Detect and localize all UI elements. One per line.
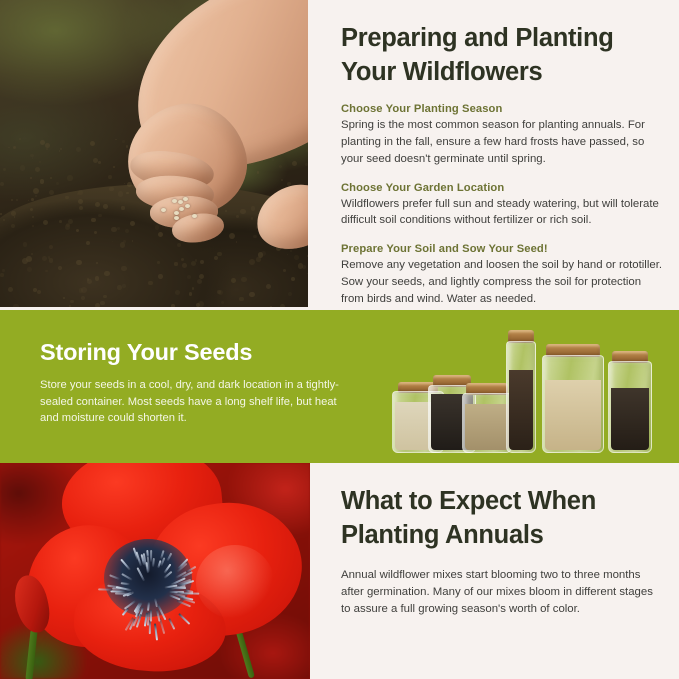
body-planting-season: Spring is the most common season for pla… [341,117,665,167]
seed-contents [545,380,601,450]
what-to-expect-body: Annual wildflower mixes start blooming t… [341,567,655,617]
red-poppy-photo [0,463,310,679]
seed-jar [608,349,652,453]
seed-contents [509,370,533,450]
storing-seeds-body: Store your seeds in a cool, dry, and dar… [40,377,340,427]
seed-contents [611,388,649,450]
section-storing-seeds: Storing Your Seeds Store your seeds in a… [0,310,679,463]
hands-sowing-seeds-photo [0,0,308,307]
page-title: Preparing and Planting Your Wildflowers [341,22,665,89]
body-garden-location: Wildflowers prefer full sun and steady w… [341,196,665,230]
seed-jar [462,381,512,453]
seeds-in-hand [160,196,200,222]
petal-highlight [196,545,274,619]
preparing-planting-text: Preparing and Planting Your Wildflowers … [341,0,679,310]
seed-jar [542,342,604,453]
glass-jar-body [542,355,604,453]
section-what-to-expect: What to Expect When Planting Annuals Ann… [0,463,679,679]
infographic-page: Preparing and Planting Your Wildflowers … [0,0,679,679]
section-preparing-planting: Preparing and Planting Your Wildflowers … [0,0,679,310]
what-to-expect-heading: What to Expect When Planting Annuals [341,485,655,552]
subheading-garden-location: Choose Your Garden Location [341,182,665,194]
poppy-stamens [110,533,190,619]
storing-seeds-text: Storing Your Seeds Store your seeds in a… [40,339,340,427]
what-to-expect-text: What to Expect When Planting Annuals Ann… [341,463,679,679]
glass-jar-body [608,361,652,453]
seed-jar [506,328,536,453]
glass-jar-body [462,393,512,453]
seed-jars-photo [380,322,670,456]
subheading-prepare-soil: Prepare Your Soil and Sow Your Seed! [341,243,665,255]
body-prepare-soil: Remove any vegetation and loosen the soi… [341,257,665,307]
seed-contents [465,404,509,450]
storing-seeds-heading: Storing Your Seeds [40,339,340,366]
glass-jar-body [506,341,536,453]
subheading-planting-season: Choose Your Planting Season [341,103,665,115]
